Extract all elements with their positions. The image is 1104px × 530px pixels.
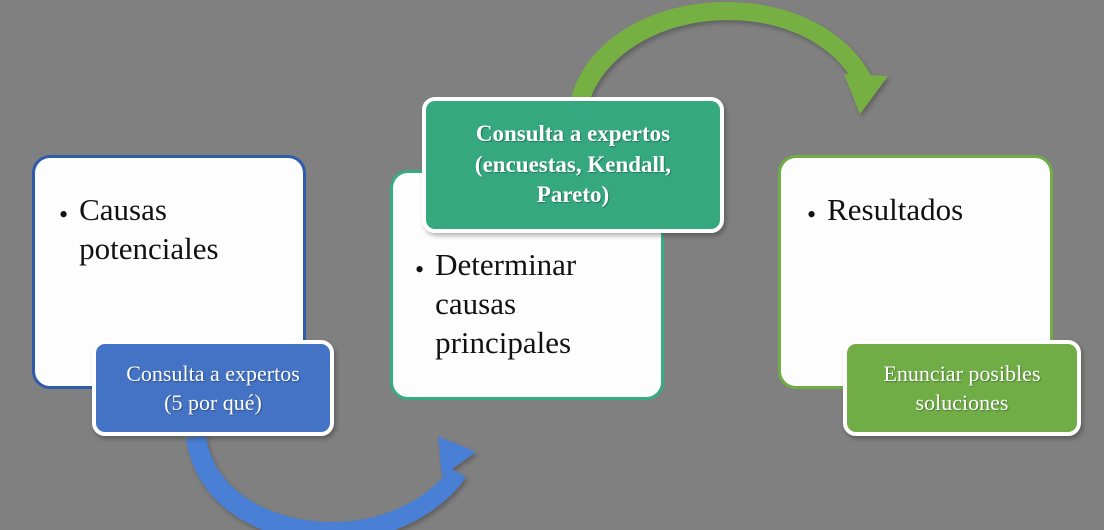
badge-line-3: Pareto) [475, 180, 671, 211]
badge-line-2: soluciones [883, 388, 1040, 417]
badge-text-block: Enunciar posibles soluciones [883, 359, 1040, 418]
stage-card-label: Resultados [827, 190, 963, 229]
bullet-row: • Causas potenciales [35, 158, 264, 268]
badge-enunciar-posibles-soluciones[interactable]: Enunciar posibles soluciones [843, 340, 1081, 436]
badge-text-block: Consulta a expertos (5 por qué) [126, 359, 300, 418]
badge-text-block: Consulta a expertos (encuestas, Kendall,… [475, 119, 671, 211]
bullet-icon: • [59, 202, 68, 228]
badge-line-1: Enunciar posibles [883, 359, 1040, 388]
bullet-icon: • [415, 257, 424, 283]
stage-card-label: Causas potenciales [79, 190, 264, 268]
badge-consulta-expertos-5-por-que[interactable]: Consulta a expertos (5 por qué) [92, 340, 334, 436]
badge-line-1: Consulta a expertos [475, 119, 671, 150]
badge-line-2: (5 por qué) [126, 388, 300, 417]
stage-card-label: Determinar causas principales [435, 245, 630, 362]
badge-consulta-expertos-encuestas-kendall-pareto[interactable]: Consulta a expertos (encuestas, Kendall,… [422, 97, 724, 233]
bullet-icon: • [807, 202, 816, 228]
badge-line-2: (encuestas, Kendall, [475, 150, 671, 181]
bullet-row: • Resultados [781, 158, 1027, 229]
diagram-canvas: • Causas potenciales • Resultados • Dete… [0, 0, 1104, 527]
badge-line-1: Consulta a expertos [126, 359, 300, 388]
